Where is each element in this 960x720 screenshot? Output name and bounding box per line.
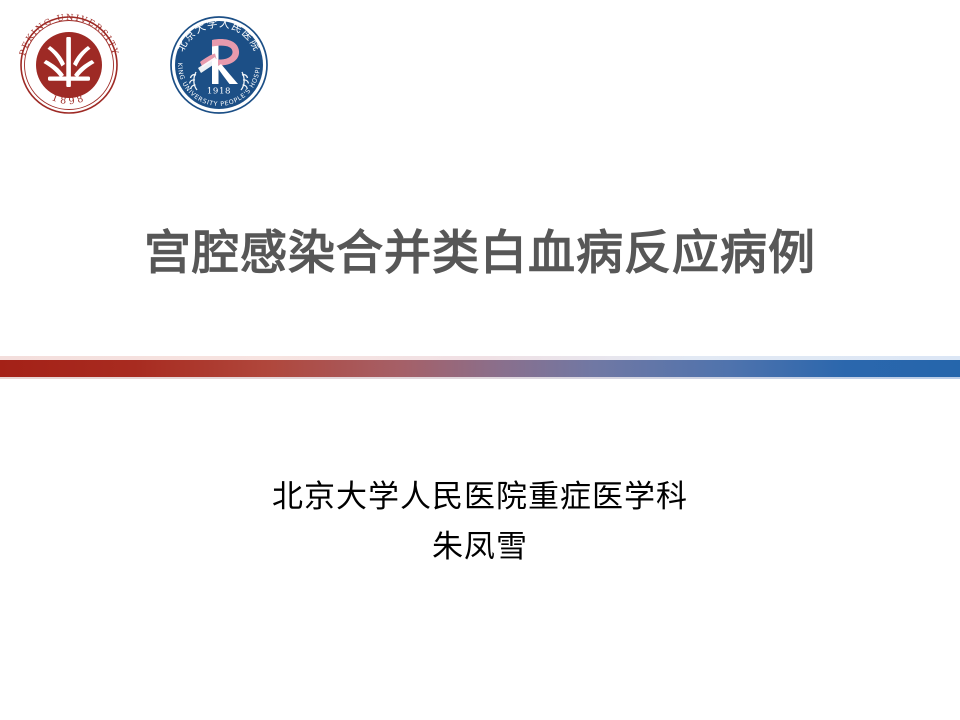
slide-title: 宫腔感染合并类白血病反应病例 xyxy=(0,228,960,281)
divider-bar xyxy=(0,360,960,377)
logo-row: PEKING UNIVERSITY 1898 xyxy=(10,6,278,124)
subtitle-author: 朱凤雪 xyxy=(0,522,960,572)
subtitle-affiliation: 北京大学人民医院重症医学科 xyxy=(0,472,960,522)
title-slide: PEKING UNIVERSITY 1898 xyxy=(0,0,960,720)
peking-university-peoples-hospital-logo: 1918 北京大学人民医院 PEKING UNIVERSITY PEOPLE'S… xyxy=(160,6,278,124)
peking-university-logo: PEKING UNIVERSITY 1898 xyxy=(10,6,128,124)
gradient-divider xyxy=(0,356,960,380)
divider-underline xyxy=(0,377,960,379)
svg-text:1918: 1918 xyxy=(207,87,231,97)
slide-subtitle: 北京大学人民医院重症医学科 朱凤雪 xyxy=(0,472,960,572)
